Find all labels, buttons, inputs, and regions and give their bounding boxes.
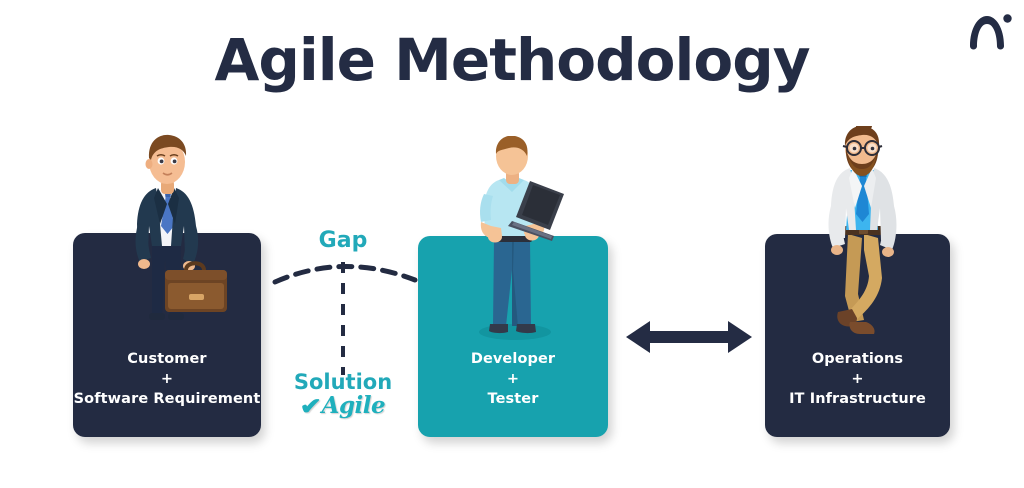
card-customer-line2: Software Requirement bbox=[73, 389, 261, 409]
check-icon: ✔ bbox=[299, 393, 321, 420]
page-title: Agile Methodology bbox=[0, 26, 1024, 94]
card-customer-line1: Customer bbox=[73, 349, 261, 369]
card-operations-plus: + bbox=[765, 369, 950, 389]
double-headed-arrow-icon bbox=[624, 313, 754, 361]
brand-logo-icon bbox=[964, 10, 1012, 50]
card-customer-label: Customer + Software Requirement bbox=[73, 349, 261, 409]
figure-businessman-with-briefcase bbox=[118, 128, 228, 333]
figure-developer-with-laptop bbox=[468, 136, 578, 346]
agile-word: Agile bbox=[322, 392, 386, 419]
card-customer-plus: + bbox=[73, 369, 261, 389]
gap-dashed-stem-icon bbox=[265, 250, 425, 380]
card-operations-line2: IT Infrastructure bbox=[765, 389, 950, 409]
card-developer-line1: Developer bbox=[418, 349, 608, 369]
card-developer-line2: Tester bbox=[418, 389, 608, 409]
figure-ops-engineer-bearded bbox=[812, 126, 927, 346]
card-developer-plus: + bbox=[418, 369, 608, 389]
card-operations-line1: Operations bbox=[765, 349, 950, 369]
infographic-canvas: Agile Methodology Customer + Software Re… bbox=[0, 0, 1024, 488]
card-operations-label: Operations + IT Infrastructure bbox=[765, 349, 950, 409]
card-developer-label: Developer + Tester bbox=[418, 349, 608, 409]
agile-script-label: ✔Agile bbox=[283, 392, 403, 419]
solution-label: Solution bbox=[283, 370, 403, 394]
